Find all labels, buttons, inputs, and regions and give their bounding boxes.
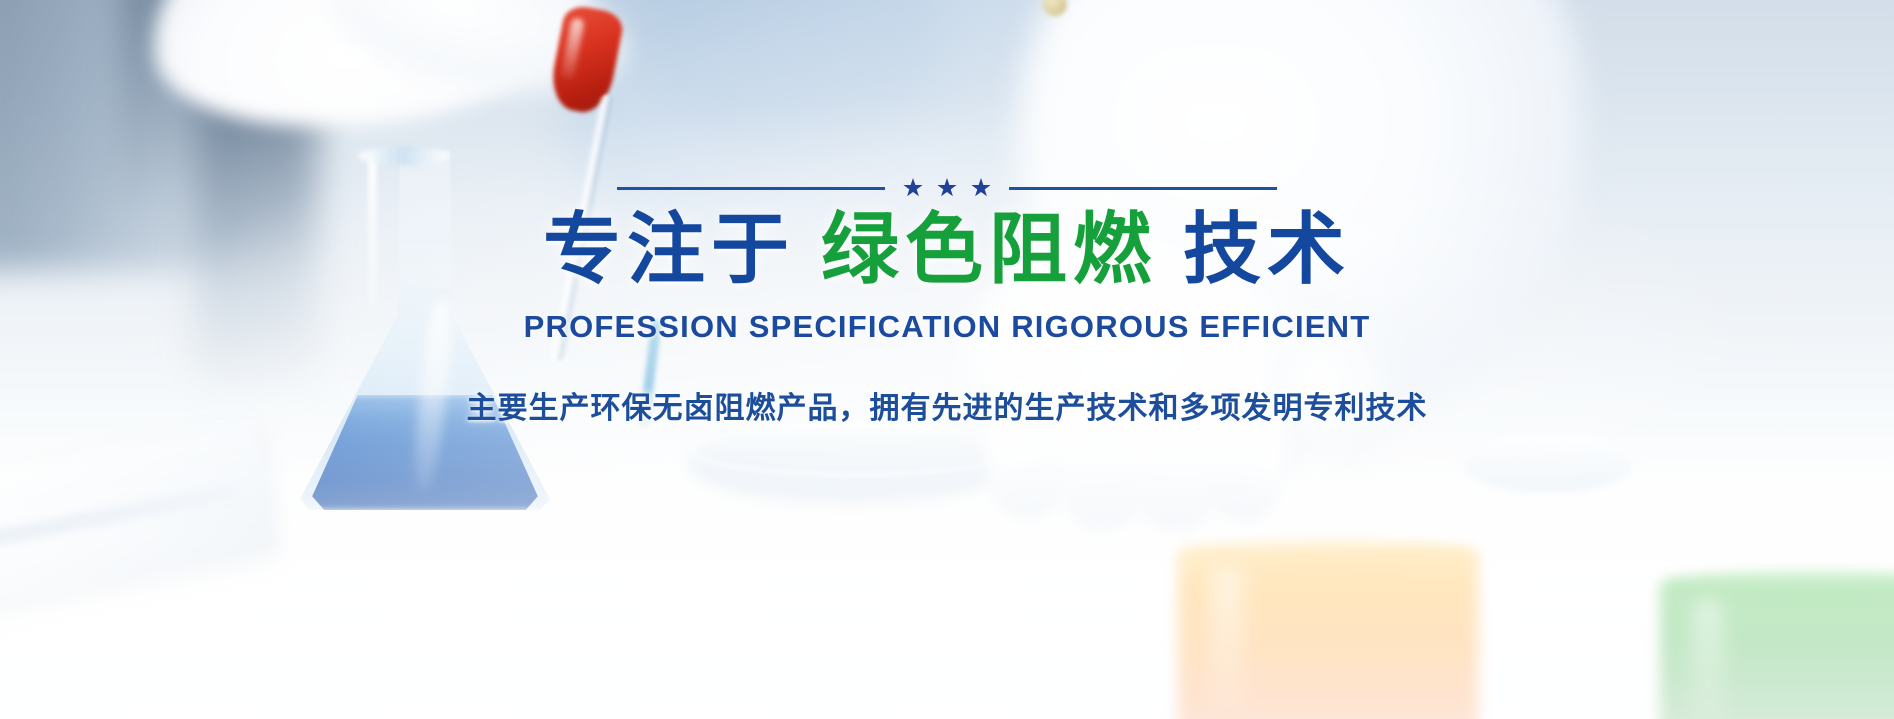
banner-content: 专注于绿色阻燃技术 PROFESSION SPECIFICATION RIGOR… [0, 0, 1894, 719]
banner-description-chinese: 主要生产环保无卤阻燃产品，拥有先进的生产技术和多项发明专利技术 [467, 383, 1428, 427]
star-icon [937, 178, 957, 198]
decorative-divider [632, 176, 1262, 200]
divider-rule-left [617, 187, 885, 190]
banner-headline: 专注于绿色阻燃技术 [543, 210, 1351, 291]
star-icon [903, 178, 923, 198]
headline-part-2: 绿色阻燃 [821, 205, 1157, 295]
hero-banner: 专注于绿色阻燃技术 PROFESSION SPECIFICATION RIGOR… [0, 0, 1894, 719]
headline-part-1: 专注于 [543, 205, 795, 295]
headline-part-3: 技术 [1183, 205, 1351, 295]
star-icon [971, 178, 991, 198]
divider-rule-right [1009, 187, 1277, 190]
star-group [903, 178, 991, 198]
banner-subtitle-english: PROFESSION SPECIFICATION RIGOROUS EFFICI… [524, 309, 1371, 345]
